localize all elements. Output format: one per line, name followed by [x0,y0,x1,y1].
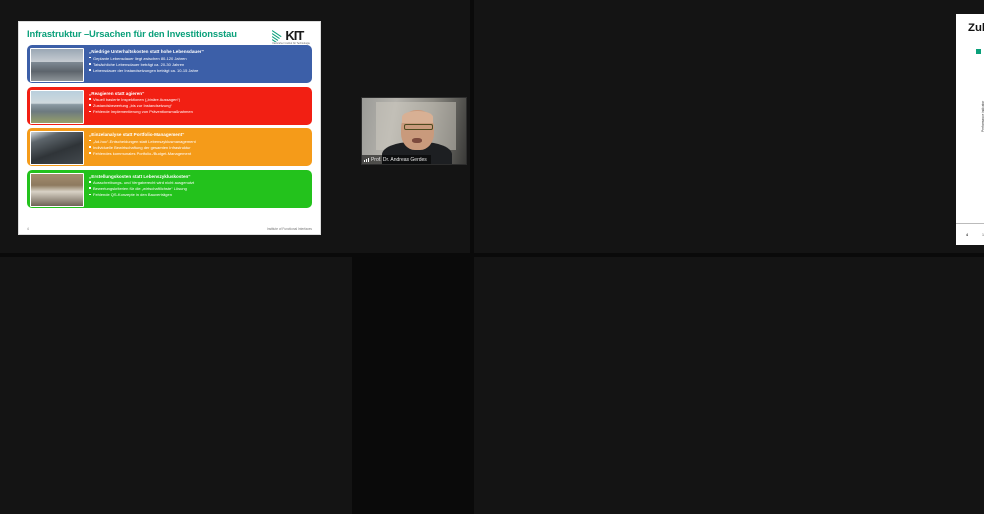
resilience-curve-figure: Pre-event performance Target level Loss … [974,76,984,176]
grid-divider-horizontal [0,253,984,257]
block-bullet: Zustandsbewertung „bis zur Instandsetzun… [89,103,309,108]
block-heading: „Reagieren statt agieren“ [89,91,309,96]
block-bullet: „Ad-hoc“-Entscheidungen statt Lebenszykl… [89,139,309,144]
slide-title: Zukunftssichere Systeme: Risiko & Resili… [968,22,984,34]
slide-media-row: Pre-event performance Target level Loss … [968,76,984,178]
slide-page-number: 4 [966,233,982,237]
slide-footer: 4 10.11.2022 Dr. rer. nat. S.S. Ottenbur… [956,223,984,245]
slide-page-number: 4 [27,227,29,231]
screen-share-top-left[interactable]: Infrastruktur –Ursachen für den Investit… [0,0,472,256]
block-thumbnail [30,48,84,82]
block-heading: „Niedrige Unterhaltskosten statt hohe Le… [89,49,309,54]
screen-share-bottom-right[interactable]: „Zwölf Thesen“ – Verantwortung übernehme… [472,256,984,514]
slide-infrastruktur: Infrastruktur –Ursachen für den Investit… [18,21,321,235]
screen-share-bottom-left[interactable]: Dirk E. Hebel [0,256,352,514]
bullet-square-icon [976,49,981,54]
participant-tile-andreas-gerdes[interactable]: Prof. Dr. Andreas Gerdes [361,97,467,165]
slide-title: Infrastruktur –Ursachen für den Investit… [27,28,312,39]
block-bullet: Fehlende QS-Konzepte in den Bauverträgen [89,192,309,197]
block-bullet: Lebensdauer der Instandsetzungen beträgt… [89,68,309,73]
slide-institute: Institute of Functional Interfaces [267,227,312,231]
block-thumbnail [30,131,84,165]
grid-divider [352,256,472,514]
block-bullet: Visuell basierte Inspektionen („binäre A… [89,97,309,102]
block-bullet: Fehlendes kommunales Portfolio-/Budget-M… [89,151,309,156]
block-bullet: Tatsächliche Lebensdauer beträgt ca. 20-… [89,62,309,67]
participant-nameplate: Prof. Dr. Andreas Gerdes [362,155,431,164]
slide-bullet: Fähigkeiten – kurzfristig: Antizipation … [968,46,984,67]
meeting-grid: Infrastruktur –Ursachen für den Investit… [0,0,984,514]
block-heading: „Erstellungskosten statt Lebenszykluskos… [89,174,309,179]
resilience-curve-svg: Pre-event performance Target level Loss … [974,76,984,176]
block-thumbnail [30,173,84,207]
block-item: „Niedrige Unterhaltskosten statt hohe Le… [27,45,312,83]
block-item: „Erstellungskosten statt Lebenszykluskos… [27,170,312,208]
grid-divider-vertical [470,0,474,514]
slide-zukunftssichere-systeme: Zukunftssichere Systeme: Risiko & Resili… [956,14,984,245]
slide-title-plain: Zukunftssichere Systeme: [968,22,984,34]
block-item: „Reagieren statt agieren“ Visuell basier… [27,87,312,125]
kit-mark-icon [272,29,285,42]
kit-wordmark: KIT [285,29,303,42]
block-heading: „Einzelanalyse statt Portfolio-Managemen… [89,132,309,137]
kit-logo: KIT Karlsruher Institut für Technologie [272,29,310,45]
block-bullet: Bewertungskriterien für die „wirtschaftl… [89,186,309,191]
block-list: „Niedrige Unterhaltskosten statt hohe Le… [27,45,312,208]
block-thumbnail [30,90,84,124]
screen-share-top-right[interactable]: Zukunftssichere Systeme: Risiko & Resili… [472,0,984,256]
block-bullet: Individuelle Bewirtschaftung der gesamte… [89,145,309,150]
slide-footer: 4 Institute of Functional Interfaces [27,227,312,231]
block-bullet: Fehlende Implementierung von Präventions… [89,109,309,114]
participant-name: Prof. Dr. Andreas Gerdes [371,157,427,163]
block-item: „Einzelanalyse statt Portfolio-Managemen… [27,128,312,166]
block-bullet: Ausschreibungs- und Vergaberecht wird ni… [89,180,309,185]
signal-strength-icon [364,157,369,162]
block-bullet: Geplante Lebensdauer liegt zwischen 80-1… [89,56,309,61]
